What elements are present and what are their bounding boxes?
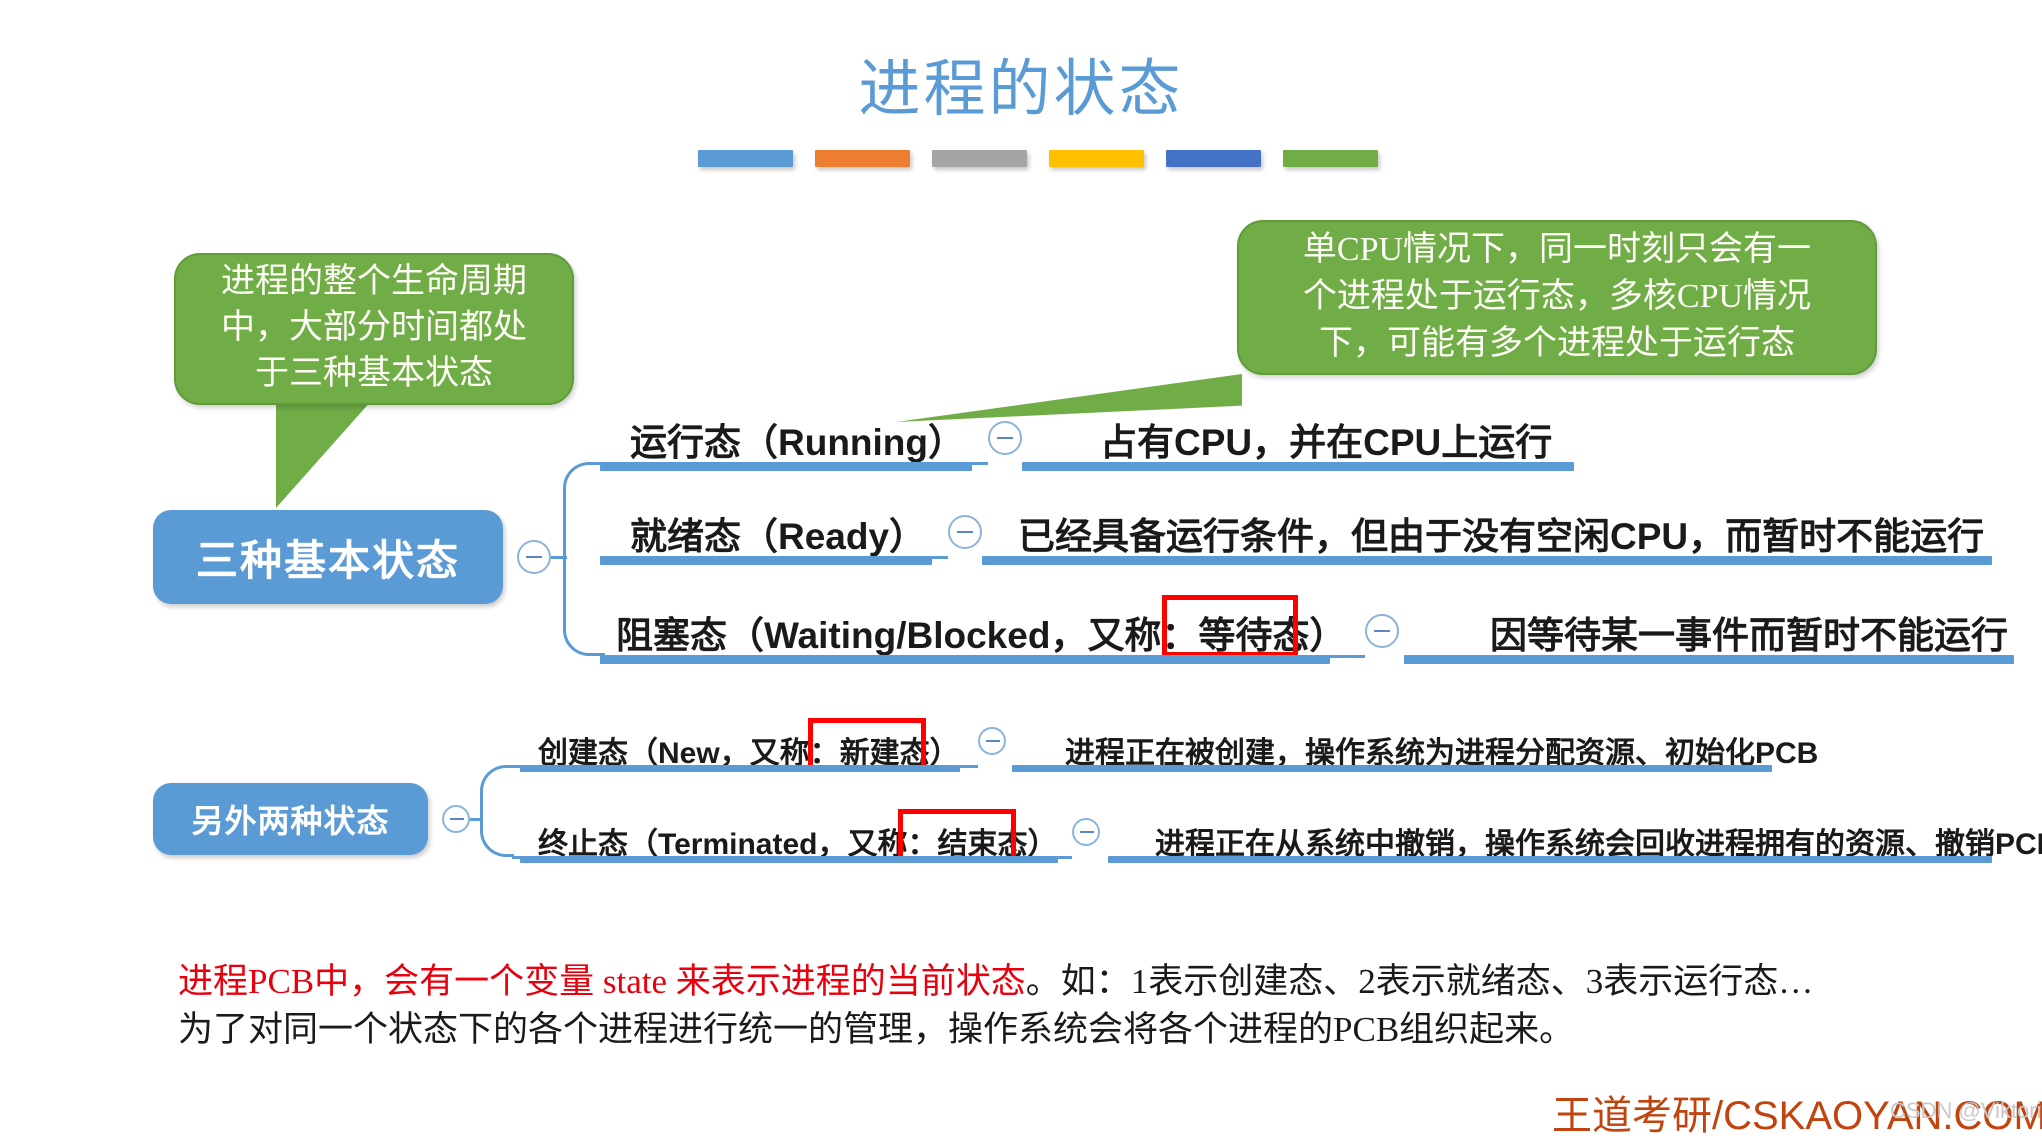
underline-blocked-desc (1404, 655, 2014, 664)
connector-ready-mid (932, 556, 948, 559)
branch-label-running: 运行态（Running） (630, 412, 965, 466)
connector-bracket-basic (563, 462, 605, 656)
underline-ready-label (600, 556, 932, 565)
accent-bar-1 (815, 150, 910, 167)
callout-right: 单CPU情况下，同一时刻只会有一 个进程处于运行态，多核CPU情况 下，可能有多… (1237, 220, 1877, 375)
accent-bar-3 (1049, 150, 1144, 167)
bottom-note-line-2: 为了对同一个状态下的各个进程进行统一的管理，操作系统会将各个进程的PCB组织起来… (178, 1006, 1978, 1054)
branch-label-blocked-prefix: 阻塞态（Waiting/Blocked， (616, 615, 1087, 656)
branch-label-ready: 就绪态（Ready） (630, 506, 926, 560)
highlight-box-terminated-alias (898, 809, 1016, 863)
highlight-box-blocked-alias (1162, 595, 1298, 657)
title-accent-bars (698, 150, 1378, 167)
underline-running-label (600, 462, 972, 471)
callout-right-line-0: 单CPU情况下，同一时刻只会有一 (1303, 226, 1811, 273)
callout-left-line-2: 于三种基本状态 (221, 351, 527, 397)
connector-running-mid (972, 462, 988, 465)
collapse-toggle-other-icon[interactable] (442, 805, 470, 833)
collapse-toggle-new-icon[interactable] (978, 727, 1006, 755)
page-title: 进程的状态 (0, 38, 2042, 128)
bottom-note-red: 进程PCB中，会有一个变量 state 来表示进程的当前状态 (178, 962, 1026, 1001)
bottom-note-line-1: 进程PCB中，会有一个变量 state 来表示进程的当前状态。如：1表示创建态、… (178, 958, 1978, 1006)
slide-canvas: 进程的状态 进程的整个生命周期 中，大部分时间都处 于三种基本状态 单CPU情况… (0, 0, 2042, 1142)
underline-terminated-label (520, 856, 1058, 863)
accent-bar-2 (932, 150, 1027, 167)
connector-blocked-mid (1330, 655, 1365, 658)
highlight-box-new-alias (808, 718, 926, 772)
accent-bar-4 (1166, 150, 1261, 167)
collapse-toggle-basic-icon[interactable] (517, 540, 551, 574)
bottom-note-black: 。如：1表示创建态、2表示就绪态、3表示运行态… (1026, 962, 1814, 1001)
underline-new-label (520, 765, 960, 772)
node-other-two-states[interactable]: 另外两种状态 (153, 783, 428, 855)
collapse-toggle-ready-icon[interactable] (948, 515, 982, 549)
underline-running-desc (1022, 462, 1574, 471)
callout-left-line-1: 中，大部分时间都处 (221, 305, 527, 351)
underline-terminated-desc (1108, 856, 1992, 863)
footer-watermark: CSDN @Viktoriae (1890, 1098, 2042, 1124)
collapse-toggle-running-icon[interactable] (988, 421, 1022, 455)
collapse-toggle-blocked-icon[interactable] (1365, 614, 1399, 648)
underline-new-desc (1012, 765, 1772, 772)
connector-new-mid (960, 765, 978, 768)
branch-desc-running: 占有CPU，并在CPU上运行 (1100, 412, 1552, 466)
accent-bar-0 (698, 150, 793, 167)
callout-left-tail (276, 400, 372, 508)
underline-blocked-label (600, 655, 1330, 664)
accent-bar-5 (1283, 150, 1378, 167)
connector-stub-other (470, 818, 482, 821)
connector-bracket-other (480, 765, 514, 857)
callout-left-line-0: 进程的整个生命周期 (221, 259, 527, 305)
connector-stub-basic (551, 556, 567, 559)
bottom-note: 进程PCB中，会有一个变量 state 来表示进程的当前状态。如：1表示创建态、… (178, 958, 1978, 1054)
callout-left: 进程的整个生命周期 中，大部分时间都处 于三种基本状态 (174, 253, 574, 405)
branch-desc-blocked: 因等待某一事件而暂时不能运行 (1490, 605, 2008, 659)
callout-right-line-1: 个进程处于运行态，多核CPU情况 (1303, 273, 1811, 320)
node-three-basic-states[interactable]: 三种基本状态 (153, 510, 503, 604)
collapse-toggle-terminated-icon[interactable] (1072, 818, 1100, 846)
underline-ready-desc (982, 556, 1992, 565)
connector-terminated-mid (1058, 856, 1072, 859)
callout-right-line-2: 下，可能有多个进程处于运行态 (1303, 320, 1811, 367)
branch-desc-ready: 已经具备运行条件，但由于没有空闲CPU，而暂时不能运行 (1018, 506, 1984, 560)
